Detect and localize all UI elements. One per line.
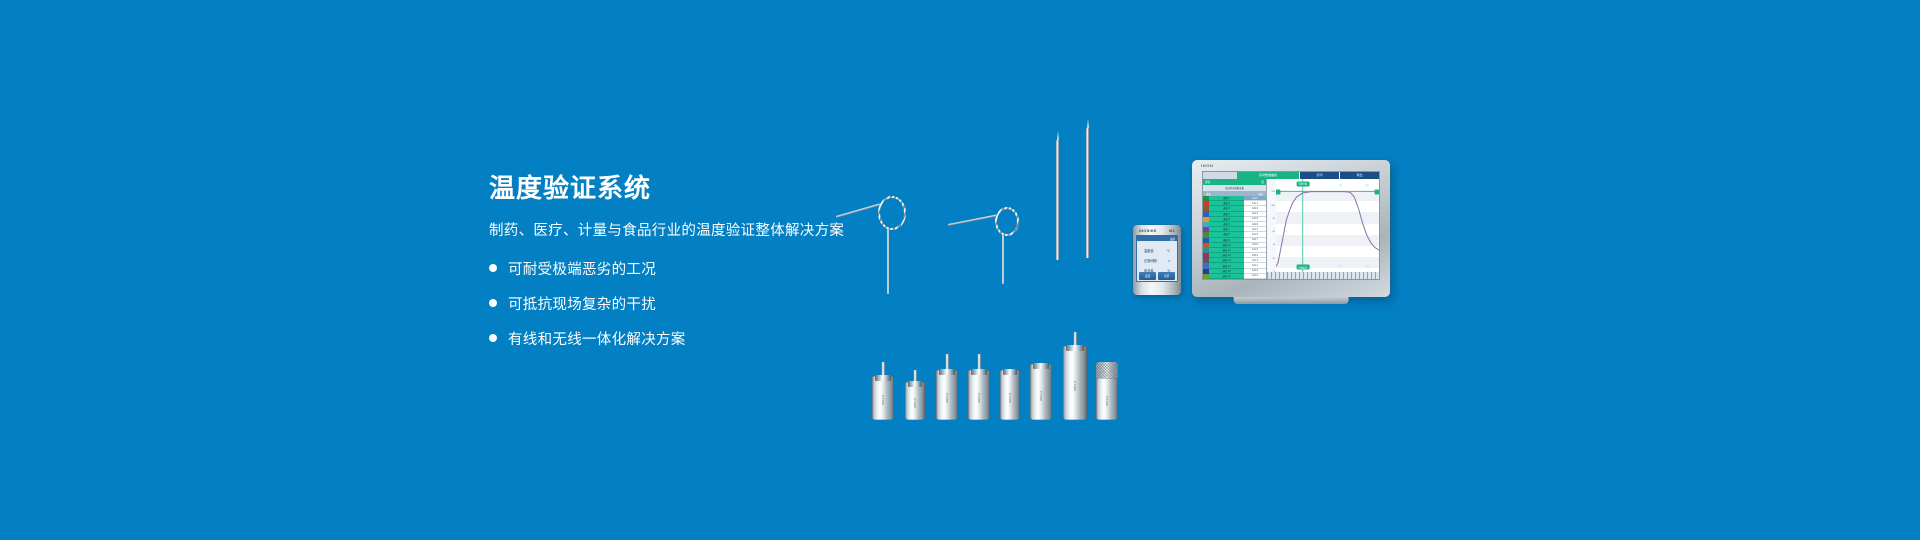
handheld-reader[interactable]: INONIKE M1 设备 温度值 ℃ 记录间隔 s xyxy=(1133,225,1181,295)
page-subtitle: 制药、医疗、计量与食品行业的温度验证整体解决方案 xyxy=(489,219,909,240)
product-photo-group: PT100 PT100 PT100 PT100 PT100 xyxy=(880,120,1520,420)
probe-cap xyxy=(1066,345,1083,351)
chart-plot-area[interactable]: 灭菌开始 灭菌结束 上限 下限 上限 下限 xyxy=(1276,179,1379,272)
sensor-probe-6: PT100 xyxy=(1030,364,1052,420)
col-header-channel: 通道 xyxy=(1206,192,1211,196)
tab-export[interactable]: 导出 xyxy=(1339,172,1379,179)
cursor-marker-top[interactable]: 灭菌开始 xyxy=(1296,181,1309,186)
setpoint-handle-left[interactable] xyxy=(1276,189,1280,194)
sensor-probe-2: PT100 xyxy=(905,368,925,420)
probe-cap xyxy=(908,381,922,387)
probe-cap xyxy=(1003,369,1017,375)
feature-text: 可抵抗现场复杂的干扰 xyxy=(508,293,656,314)
select-all-button[interactable]: 全选 xyxy=(1203,279,1235,280)
chart-x-axis-strip xyxy=(1267,272,1379,280)
chart-panel: 020406080100120140 灭菌开始 灭菌结束 xyxy=(1267,179,1379,280)
sensor-probe-5: PT100 xyxy=(1000,370,1020,420)
handheld-model: M1 xyxy=(1169,229,1175,233)
list-item: 温度值 ℃ xyxy=(1141,248,1173,253)
y-tick-label: 0 xyxy=(1274,271,1275,273)
tab-print[interactable]: 打印 xyxy=(1299,172,1339,179)
channel-table-panel: 通道 值 温度验证数据采集 通道 温度 通道 1121.3通道 2121.1通道… xyxy=(1203,179,1267,280)
channel-header-left: 通道 xyxy=(1205,180,1210,184)
hero-banner: 温度验证系统 制药、医疗、计量与食品行业的温度验证整体解决方案 可耐受极端恶劣的… xyxy=(0,0,1920,540)
chart-limit-label-lower-2: 下限 xyxy=(1364,264,1369,268)
list-item: 有线和无线一体化解决方案 xyxy=(489,328,909,349)
hero-text-block: 温度验证系统 制药、医疗、计量与食品行业的温度验证整体解决方案 可耐受极端恶劣的… xyxy=(489,174,909,363)
y-tick-label: 80 xyxy=(1273,218,1275,220)
readout-label: 记录间隔 xyxy=(1144,258,1157,263)
cursor-marker-bottom[interactable]: 灭菌结束 xyxy=(1296,265,1309,270)
probe-cap xyxy=(1033,363,1049,369)
channel-header-right: 值 xyxy=(1261,180,1264,184)
y-tick-label: 140 xyxy=(1271,178,1275,180)
software-topbar: 实时数据曲线 打印 导出 xyxy=(1203,172,1379,179)
chart-y-axis: 020406080100120140 xyxy=(1267,179,1276,272)
probe-cap xyxy=(939,369,955,375)
sensor-probe-1: PT100 xyxy=(872,360,894,420)
list-item: 可抵抗现场复杂的干扰 xyxy=(489,293,909,314)
monitor-stand xyxy=(1234,297,1349,304)
probe-drop-wire xyxy=(887,228,889,294)
probe-label: PT100 xyxy=(913,398,917,408)
chart-limit-label-lower: 下限 xyxy=(1364,183,1369,187)
handheld-button-row: 设置 记录 xyxy=(1139,272,1175,280)
channel-footer-buttons: 全选 反选 xyxy=(1203,279,1266,280)
col-header-temp: 温度 xyxy=(1258,192,1263,196)
probe-wire xyxy=(948,214,997,226)
handheld-screen[interactable]: 设备 温度值 ℃ 记录间隔 s 电池量 % xyxy=(1136,235,1178,282)
handheld-brand: INONIKE xyxy=(1139,229,1157,233)
handheld-settings-button[interactable]: 设置 xyxy=(1139,272,1156,280)
readout-label: 温度值 xyxy=(1144,248,1154,253)
y-tick-label: 120 xyxy=(1271,191,1275,193)
probe-label: PT100 xyxy=(977,393,981,403)
y-tick-label: 100 xyxy=(1271,205,1275,207)
list-item: 记录间隔 s xyxy=(1141,258,1173,263)
probe-cap xyxy=(971,369,987,375)
sensor-probe-4: PT100 xyxy=(968,354,990,420)
probe-label: PT100 xyxy=(1105,396,1109,406)
handheld-title-text: 设备 xyxy=(1170,237,1175,241)
y-tick-label: 60 xyxy=(1273,231,1275,233)
bullet-dot-icon xyxy=(489,334,497,342)
feature-list: 可耐受极端恶劣的工况 可抵抗现场复杂的干扰 有线和无线一体化解决方案 xyxy=(489,258,909,349)
software-main-area: 通道 值 温度验证数据采集 通道 温度 通道 1121.3通道 2121.1通道… xyxy=(1203,179,1379,280)
sensor-probe-8: PT100 xyxy=(1096,362,1118,420)
chart-plot-row: 020406080100120140 灭菌开始 灭菌结束 xyxy=(1267,179,1379,272)
invert-selection-button[interactable]: 反选 xyxy=(1235,279,1267,280)
chart-series-line xyxy=(1276,192,1379,267)
sensor-probe-3: PT100 xyxy=(936,354,958,420)
y-tick-label: 40 xyxy=(1273,244,1275,246)
needle-probe-1 xyxy=(1056,140,1059,260)
sensor-probe-7: PT100 xyxy=(1063,332,1087,420)
bullet-dot-icon xyxy=(489,299,497,307)
needle-probe-2 xyxy=(1086,128,1089,258)
page-title: 温度验证系统 xyxy=(489,174,909,203)
probe-coil-icon xyxy=(995,207,1019,236)
handheld-brand-row: INONIKE M1 xyxy=(1136,229,1178,233)
probe-drop-wire xyxy=(1002,234,1004,284)
probe-label: PT100 xyxy=(945,393,949,403)
chart-limit-label-upper-2: 上限 xyxy=(1337,264,1342,268)
probe-label: PT100 xyxy=(881,395,885,405)
chart-svg xyxy=(1276,179,1379,272)
monitor-screen[interactable]: 实时数据曲线 打印 导出 通道 值 温度验证数据采集 通道 温 xyxy=(1202,171,1380,280)
feature-text: 可耐受极端恶劣的工况 xyxy=(508,258,656,279)
validation-software-monitor: INON 实时数据曲线 打印 导出 通道 值 温度验证数据采集 xyxy=(1192,160,1390,297)
handheld-readout-list: 温度值 ℃ 记录间隔 s 电池量 % xyxy=(1137,241,1177,273)
list-item: 可耐受极端恶劣的工况 xyxy=(489,258,909,279)
chart-limit-label-upper: 上限 xyxy=(1337,183,1342,187)
probe-label: PT100 xyxy=(1073,381,1077,391)
bullet-dot-icon xyxy=(489,264,497,272)
channel-row-list[interactable]: 通道 1121.3通道 2121.1通道 3120.9通道 4121.4通道 5… xyxy=(1203,196,1266,279)
readout-value: s xyxy=(1168,259,1170,263)
readout-value: ℃ xyxy=(1166,249,1170,253)
feature-text: 有线和无线一体化解决方案 xyxy=(508,328,686,349)
y-tick-label: 20 xyxy=(1273,258,1275,260)
setpoint-handle-right[interactable] xyxy=(1374,189,1379,194)
probe-label: PT100 xyxy=(1008,393,1012,403)
handheld-record-button[interactable]: 记录 xyxy=(1158,272,1175,280)
monitor-brand: INON xyxy=(1201,163,1213,168)
topbar-spacer xyxy=(1203,172,1237,179)
probe-coil-icon xyxy=(878,196,906,230)
probe-label: PT100 xyxy=(1039,391,1043,401)
probe-cap xyxy=(875,375,891,381)
tab-realtime-curve[interactable]: 实时数据曲线 xyxy=(1237,172,1299,179)
